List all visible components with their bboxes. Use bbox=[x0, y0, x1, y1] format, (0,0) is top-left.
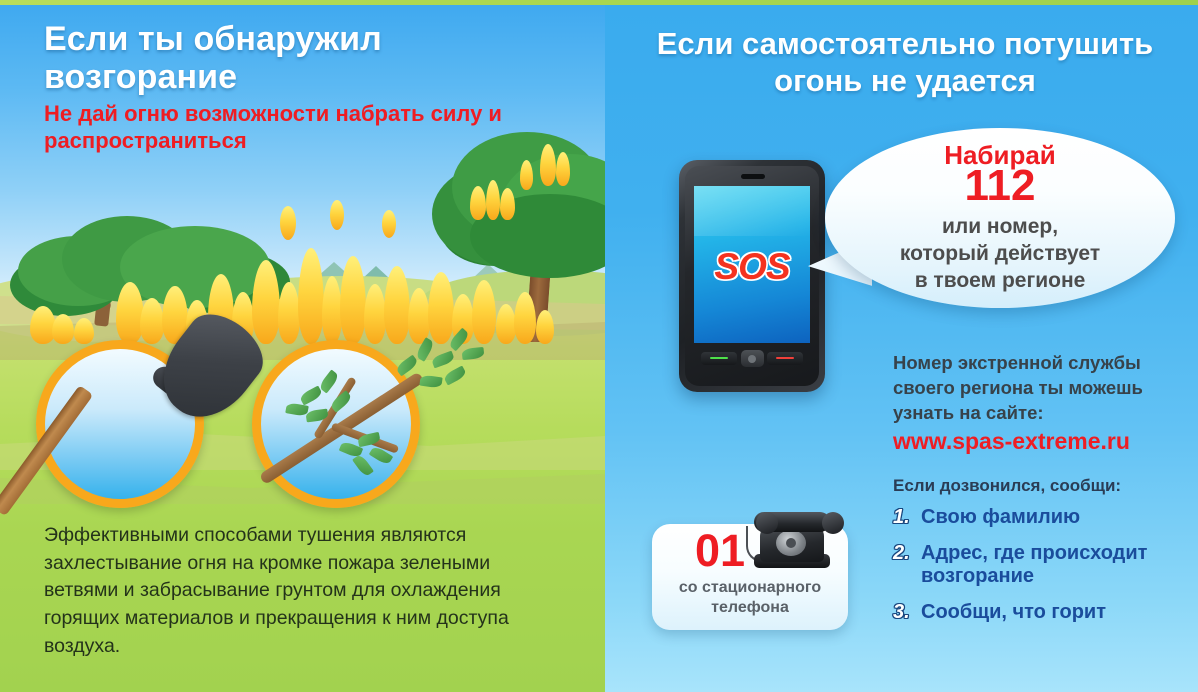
list-item-number: 2. bbox=[893, 542, 921, 566]
flame-icon bbox=[500, 188, 515, 220]
handset-mouthpiece bbox=[822, 512, 844, 534]
phone-dial bbox=[776, 530, 806, 556]
list-item: 1. Свою фамилию bbox=[893, 506, 1193, 530]
infographic-poster: Если ты обнаружил возгорание Не дай огню… bbox=[0, 0, 1198, 692]
landline-caption: со стационарного телефона bbox=[652, 578, 848, 617]
top-green-strip bbox=[0, 0, 1198, 5]
phone-speaker-icon bbox=[741, 174, 765, 179]
call-end-button[interactable] bbox=[767, 352, 803, 365]
bubble-rest-line: или номер, bbox=[825, 214, 1175, 241]
left-paragraph: Эффективными способами тушения являются … bbox=[44, 522, 564, 660]
sos-label: SOS bbox=[694, 246, 810, 288]
bubble-rest-text: или номер, который действует в твоем рег… bbox=[825, 214, 1175, 295]
list-item-number: 1. bbox=[893, 506, 921, 530]
flame-icon bbox=[470, 186, 486, 220]
website-link[interactable]: www.spas-extreme.ru bbox=[893, 428, 1193, 455]
wildfire-flames bbox=[30, 234, 550, 344]
call-accept-button[interactable] bbox=[701, 352, 737, 365]
left-headline: Если ты обнаружил возгорание bbox=[44, 20, 514, 96]
left-subheadline: Не дай огню возможности набрать силу и р… bbox=[44, 100, 514, 155]
emergency-service-note: Номер экстренной службы своего региона т… bbox=[893, 350, 1193, 425]
list-item: 3. Сообщи, что горит bbox=[893, 601, 1193, 625]
list-item-label: Сообщи, что горит bbox=[921, 601, 1106, 625]
screen-gloss bbox=[694, 186, 810, 236]
list-item: 2. Адрес, где происходит возгорание bbox=[893, 542, 1193, 589]
home-button[interactable] bbox=[741, 350, 764, 367]
flame-icon bbox=[520, 160, 533, 190]
smartphone-icon: SOS bbox=[679, 160, 825, 392]
list-item-label: Адрес, где происходит возгорание bbox=[921, 542, 1193, 589]
bubble-rest-line: в твоем регионе bbox=[825, 268, 1175, 295]
landline-number-01: 01 bbox=[665, 528, 775, 573]
bubble-rest-line: который действует bbox=[825, 241, 1175, 268]
list-item-number: 3. bbox=[893, 601, 921, 625]
emergency-number-112: 112 bbox=[825, 164, 1175, 208]
right-headline: Если самостоятельно потушить огонь не уд… bbox=[645, 26, 1165, 99]
report-list: 1. Свою фамилию 2. Адрес, где происходит… bbox=[893, 506, 1193, 636]
flame-icon bbox=[556, 152, 570, 186]
list-title: Если дозвонился, сообщи: bbox=[893, 476, 1193, 496]
list-item-label: Свою фамилию bbox=[921, 506, 1080, 530]
